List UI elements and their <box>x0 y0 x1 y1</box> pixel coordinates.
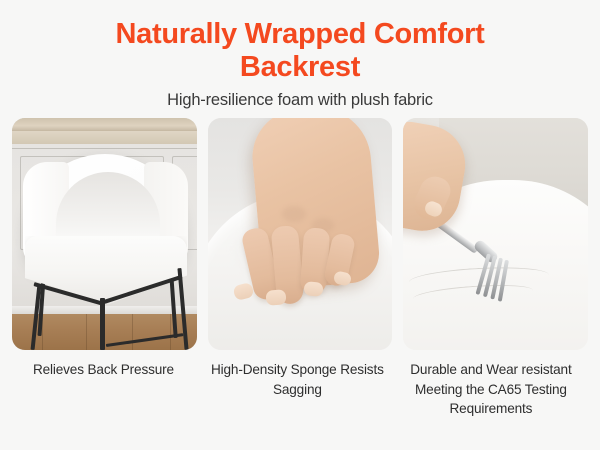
feature-image-durability <box>403 118 588 350</box>
chair-leg-front-center <box>100 298 105 350</box>
fingernail-ring <box>303 281 323 297</box>
infographic-header: Naturally Wrapped Comfort Backrest High-… <box>0 0 600 110</box>
caption-row: Relieves Back Pressure High-Density Spon… <box>12 360 588 419</box>
feature-image-sponge <box>208 118 393 350</box>
fingernail-middle <box>265 289 286 306</box>
wood-countertop-front-edge <box>12 131 197 144</box>
headline-line-2: Backrest <box>240 51 360 83</box>
feature-panel-row <box>12 118 588 350</box>
wood-countertop-surface <box>12 118 197 131</box>
page-subtitle: High-resilience foam with plush fabric <box>0 90 600 110</box>
page-title: Naturally Wrapped Comfort Backrest <box>40 18 560 84</box>
knuckle-highlight-1 <box>282 206 306 222</box>
caption-durability: Durable and Wear resistant Meeting the C… <box>394 360 588 419</box>
caption-chair: Relieves Back Pressure <box>12 360 195 419</box>
feature-image-chair <box>12 118 197 350</box>
headline-line-1: Naturally Wrapped Comfort <box>115 18 484 50</box>
caption-sponge: High-Density Sponge Resists Sagging <box>206 360 389 419</box>
